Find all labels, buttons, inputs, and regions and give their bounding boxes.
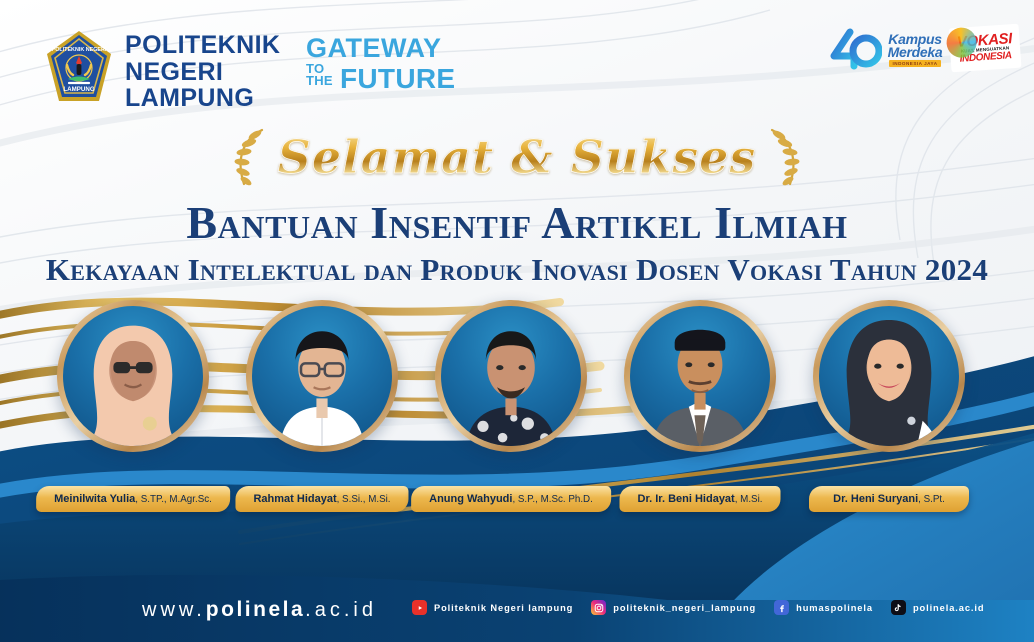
portrait-frame — [435, 300, 587, 452]
poster-banner: POLITEKNIK NEGERI LAMPUNG POLITEKNIK NEG… — [0, 0, 1034, 642]
awardee-degree: , S.P., M.Sc. Ph.D. — [512, 494, 592, 505]
portrait-frame — [57, 300, 209, 452]
awardee-degree: , S.Pt. — [918, 494, 945, 505]
youtube-icon — [412, 600, 427, 615]
awardee-card: Dr. Heni Suryani, S.Pt. — [799, 300, 979, 452]
awardee-name: Rahmat Hidayat — [253, 493, 336, 505]
vokasi-logo: VOKASI KUAT, MENGUATKAN INDONESIA — [949, 24, 1022, 73]
awardee-nameplate: Dr. Heni Suryani, S.Pt. — [809, 486, 969, 512]
headline-sub: Kekayaan Intelektual dan Produk Inovasi … — [0, 250, 1034, 290]
greeting-text: Selamat & Sukses — [278, 130, 757, 184]
institution-name: POLITEKNIK NEGERI LAMPUNG — [125, 32, 280, 112]
poster-footer: www.polinela.ac.id Politeknik Negeri lam… — [0, 580, 1034, 642]
tiktok-icon — [891, 600, 906, 615]
svg-text:LAMPUNG: LAMPUNG — [63, 86, 94, 93]
svg-text:POLITEKNIK NEGERI: POLITEKNIK NEGERI — [52, 47, 107, 53]
kampus-merdeka-line-2: Merdeka — [888, 46, 943, 59]
polinela-crest-icon: POLITEKNIK NEGERI LAMPUNG — [43, 29, 115, 107]
website-prefix: www. — [142, 599, 206, 621]
social-links: Politeknik Negeri lampung politeknik_neg… — [412, 600, 984, 615]
website-brand: polinela — [206, 598, 305, 621]
awardee-card: Meinilwita Yulia, S.TP., M.Agr.Sc. — [43, 300, 223, 452]
website-suffix: .ac.id — [305, 599, 377, 621]
instagram-icon — [591, 600, 606, 615]
social-link-facebook[interactable]: humaspolinela — [774, 600, 873, 615]
greeting-block: Selamat & Sukses — [0, 118, 1034, 196]
social-handle: polinela.ac.id — [913, 603, 985, 613]
tagline-future: FUTURE — [340, 63, 455, 95]
laurel-right-icon — [762, 126, 806, 188]
awardee-name: Dr. Ir. Beni Hidayat — [638, 493, 735, 505]
awardee-nameplate: Rahmat Hidayat, S.Si., M.Si. — [235, 486, 408, 512]
tagline-gateway: GATEWAY — [306, 33, 442, 64]
awardee-card: Dr. Ir. Beni Hidayat, M.Si. — [610, 300, 790, 452]
awardee-list: Meinilwita Yulia, S.TP., M.Agr.Sc. — [0, 300, 1034, 530]
awardee-degree: , M.Si. — [735, 494, 763, 505]
institution-line-2: NEGERI — [125, 59, 280, 86]
kampus-merdeka-logo: Kampus Merdeka INDONESIA JAYA — [884, 30, 946, 70]
gateway-tagline: GATEWAY TO THE FUTURE — [306, 33, 496, 85]
portrait-heni-suryani — [819, 306, 959, 446]
tagline-the: THE — [306, 75, 333, 87]
portrait-frame — [624, 300, 776, 452]
social-link-instagram[interactable]: politeknik_negeri_lampung — [591, 600, 756, 615]
portrait-meinilwita-yulia — [63, 306, 203, 446]
institution-line-1: POLITEKNIK — [125, 32, 280, 59]
social-handle: Politeknik Negeri lampung — [434, 603, 573, 613]
awardee-degree: , S.Si., M.Si. — [337, 494, 391, 505]
awardee-nameplate: Dr. Ir. Beni Hidayat, M.Si. — [620, 486, 781, 512]
portrait-rahmat-hidayat — [252, 306, 392, 446]
awardee-name: Dr. Heni Suryani — [833, 493, 918, 505]
poster-header: POLITEKNIK NEGERI LAMPUNG POLITEKNIK NEG… — [0, 0, 1034, 118]
social-link-youtube[interactable]: Politeknik Negeri lampung — [412, 600, 573, 615]
portrait-frame — [813, 300, 965, 452]
kampus-merdeka-ribbon: INDONESIA JAYA — [889, 60, 940, 68]
headline-block: Bantuan Insentif Artikel Ilmiah Kekayaan… — [0, 196, 1034, 290]
awardee-nameplate: Anung Wahyudi, S.P., M.Sc. Ph.D. — [411, 486, 611, 512]
institution-line-3: LAMPUNG — [125, 85, 280, 112]
laurel-left-icon — [228, 126, 272, 188]
social-handle: politeknik_negeri_lampung — [613, 603, 756, 613]
anniversary-40-icon — [826, 28, 882, 70]
awardee-name: Anung Wahyudi — [429, 493, 512, 505]
portrait-anung-wahyudi — [441, 306, 581, 446]
social-handle: humaspolinela — [796, 603, 873, 613]
social-link-tiktok[interactable]: polinela.ac.id — [891, 600, 985, 615]
tagline-to-the: TO THE — [306, 63, 333, 86]
portrait-beni-hidayat — [630, 306, 770, 446]
facebook-icon — [774, 600, 789, 615]
portrait-frame — [246, 300, 398, 452]
awardee-degree: , S.TP., M.Agr.Sc. — [135, 494, 212, 505]
website-url[interactable]: www.polinela.ac.id — [142, 598, 377, 622]
awardee-card: Rahmat Hidayat, S.Si., M.Si. — [232, 300, 412, 452]
awardee-nameplate: Meinilwita Yulia, S.TP., M.Agr.Sc. — [36, 486, 230, 512]
headline-main: Bantuan Insentif Artikel Ilmiah — [0, 196, 1034, 250]
awardee-card: Anung Wahyudi, S.P., M.Sc. Ph.D. — [421, 300, 601, 452]
awardee-name: Meinilwita Yulia — [54, 493, 135, 505]
